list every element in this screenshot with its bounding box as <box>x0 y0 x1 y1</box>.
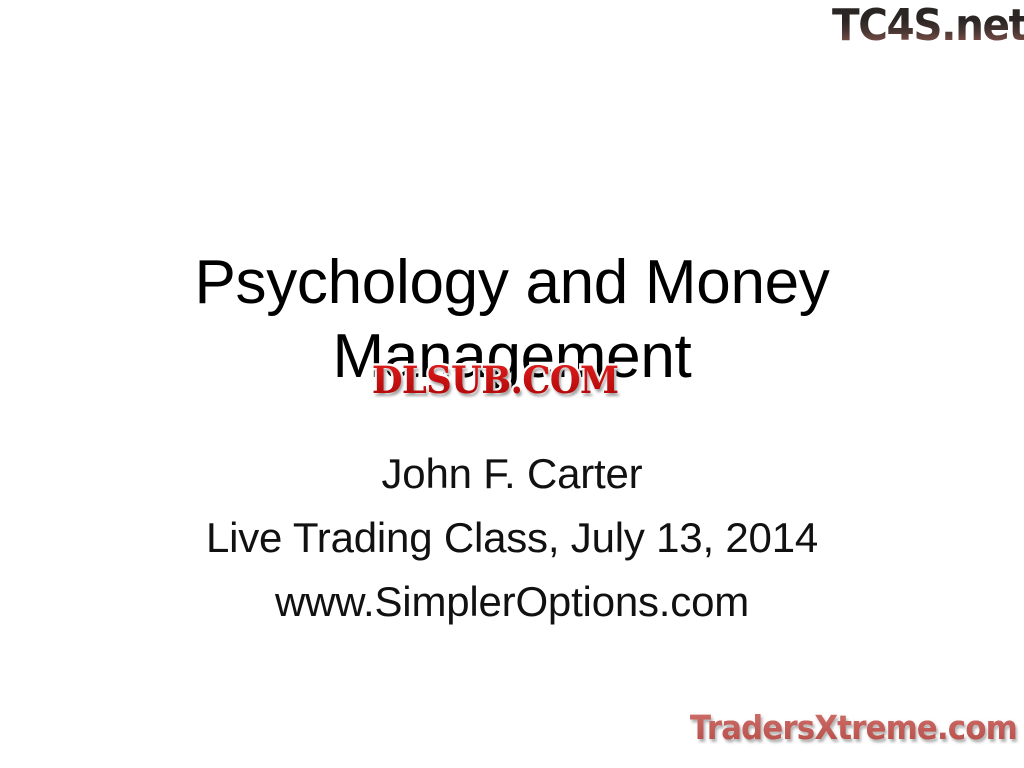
presenter-name: John F. Carter <box>0 442 1024 506</box>
class-date-line: Live Trading Class, July 13, 2014 <box>0 506 1024 570</box>
slide-subtitle: John F. Carter Live Trading Class, July … <box>0 442 1024 634</box>
slide-title-line-1: Psychology and Money <box>0 246 1024 320</box>
watermark-dlsub-com: DLSUB.COM <box>372 358 618 402</box>
watermark-tradersxtreme-com: TradersXtreme.com <box>690 708 1017 748</box>
watermark-tc4s-net: TC4S.net <box>832 2 1024 50</box>
website-url: www.SimplerOptions.com <box>0 570 1024 634</box>
presentation-slide: Psychology and Money Management John F. … <box>0 0 1024 768</box>
